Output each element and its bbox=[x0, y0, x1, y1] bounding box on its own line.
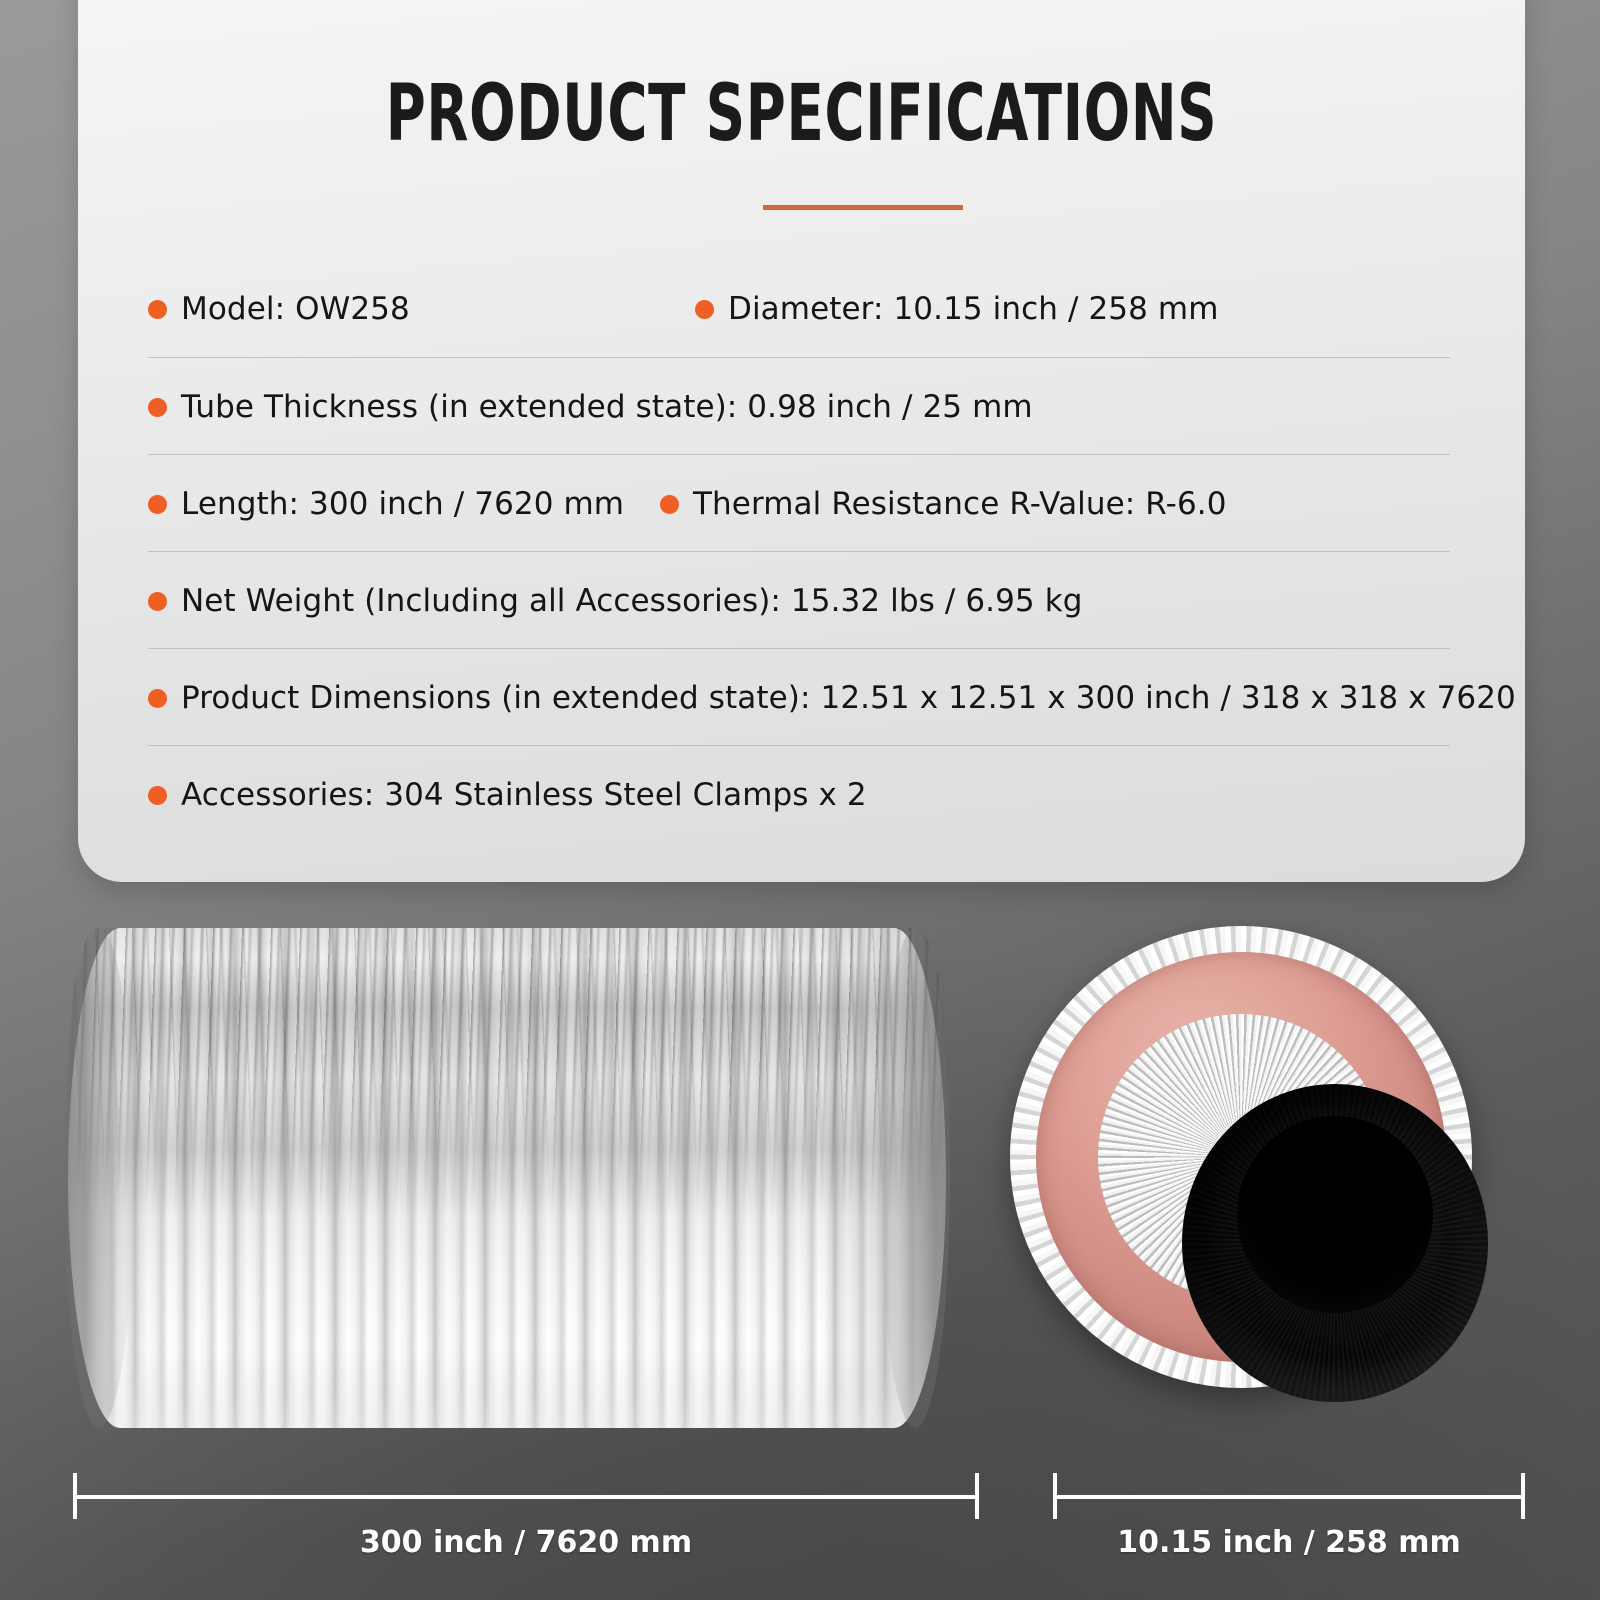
duct-bore-shadow bbox=[1237, 1116, 1433, 1313]
dimension-label-length: 300 inch / 7620 mm bbox=[73, 1525, 979, 1560]
spec-label: Thermal Resistance R-Value: R-6.0 bbox=[693, 486, 1227, 522]
specifications-list: Model: OW258 Diameter: 10.15 inch / 258 … bbox=[148, 260, 1450, 842]
bullet-icon bbox=[148, 300, 167, 319]
title-accent-rule bbox=[763, 205, 963, 210]
dimension-bar bbox=[73, 1495, 979, 1499]
spec-item: Accessories: 304 Stainless Steel Clamps … bbox=[148, 746, 867, 843]
spec-item: Length: 300 inch / 7620 mm bbox=[148, 455, 624, 552]
spec-label: Tube Thickness (in extended state): 0.98… bbox=[181, 389, 1033, 425]
page-background: PRODUCT SPECIFICATIONS Model: OW258 Diam… bbox=[0, 0, 1600, 1600]
page-title: PRODUCT SPECIFICATIONS bbox=[295, 70, 1308, 158]
dimension-cap-right bbox=[975, 1473, 979, 1519]
bullet-icon bbox=[148, 689, 167, 708]
bullet-icon bbox=[695, 300, 714, 319]
bullet-icon bbox=[148, 398, 167, 417]
spec-row: Tube Thickness (in extended state): 0.98… bbox=[148, 357, 1450, 454]
spec-item: Product Dimensions (in extended state): … bbox=[148, 649, 1525, 746]
spec-label: Diameter: 10.15 inch / 258 mm bbox=[728, 291, 1219, 327]
dimension-label-diameter: 10.15 inch / 258 mm bbox=[1053, 1525, 1525, 1560]
duct-inner-foil-layer bbox=[1098, 1014, 1384, 1300]
bullet-icon bbox=[148, 495, 167, 514]
spec-item: Diameter: 10.15 inch / 258 mm bbox=[695, 260, 1219, 357]
spec-label: Accessories: 304 Stainless Steel Clamps … bbox=[181, 777, 867, 813]
duct-cross-section bbox=[1010, 926, 1472, 1388]
spec-row: Net Weight (Including all Accessories): … bbox=[148, 551, 1450, 648]
spec-label: Net Weight (Including all Accessories): … bbox=[181, 583, 1083, 619]
spec-label: Product Dimensions (in extended state): … bbox=[181, 680, 1525, 716]
insulated-flexible-duct-roll bbox=[68, 928, 946, 1428]
dimension-line-length: 300 inch / 7620 mm bbox=[73, 1473, 979, 1519]
spec-item: Net Weight (Including all Accessories): … bbox=[148, 552, 1083, 649]
spec-row: Length: 300 inch / 7620 mm Thermal Resis… bbox=[148, 454, 1450, 551]
spec-item: Tube Thickness (in extended state): 0.98… bbox=[148, 358, 1033, 455]
spec-row: Accessories: 304 Stainless Steel Clamps … bbox=[148, 745, 1450, 842]
duct-roll-body bbox=[68, 928, 946, 1428]
spec-item: Thermal Resistance R-Value: R-6.0 bbox=[660, 455, 1227, 552]
duct-outer-foil-jacket bbox=[1010, 926, 1472, 1388]
spec-row: Product Dimensions (in extended state): … bbox=[148, 648, 1450, 745]
bullet-icon bbox=[148, 786, 167, 805]
dimension-cap-right bbox=[1521, 1473, 1525, 1519]
spec-label: Model: OW258 bbox=[181, 291, 410, 327]
dimension-bar bbox=[1053, 1495, 1525, 1499]
duct-inner-bore bbox=[1182, 1084, 1488, 1402]
spec-row: Model: OW258 Diameter: 10.15 inch / 258 … bbox=[148, 260, 1450, 357]
bullet-icon bbox=[660, 495, 679, 514]
bullet-icon bbox=[148, 592, 167, 611]
spec-item: Model: OW258 bbox=[148, 260, 410, 357]
dimension-line-diameter: 10.15 inch / 258 mm bbox=[1053, 1473, 1525, 1519]
duct-fiberglass-insulation bbox=[1036, 952, 1446, 1362]
specifications-card: PRODUCT SPECIFICATIONS Model: OW258 Diam… bbox=[78, 0, 1525, 882]
spec-label: Length: 300 inch / 7620 mm bbox=[181, 486, 624, 522]
